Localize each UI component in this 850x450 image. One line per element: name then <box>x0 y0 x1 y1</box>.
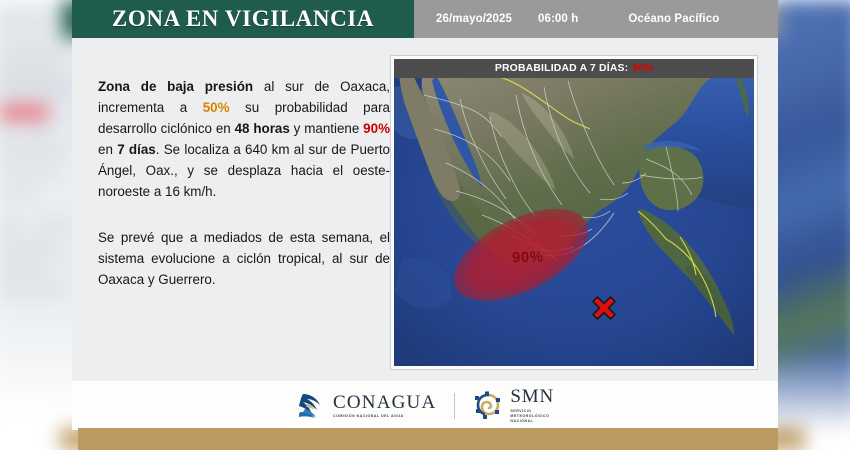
conagua-subtitle: COMISIÓN NACIONAL DEL AGUA <box>333 415 436 419</box>
map-probability-value: 90% <box>632 63 653 74</box>
bulletin-basin: Océano Pacífico <box>628 13 719 25</box>
conagua-name: CONAGUA <box>333 393 436 412</box>
bottom-accent-bar <box>78 428 778 450</box>
page-title: ZONA EN VIGILANCIA <box>112 6 374 32</box>
window-48-hours: 48 horas <box>235 121 290 136</box>
map-graphic <box>394 59 754 366</box>
smn-subtitle: SERVICIO METEOROLÓGICO NACIONAL <box>510 409 554 425</box>
p1-seg5: en <box>98 142 117 157</box>
header-meta-bar: 26/mayo/2025 06:00 h Océano Pacífico <box>414 0 778 38</box>
smn-logo: SMN SERVICIO METEOROLÓGICO NACIONAL <box>473 387 554 425</box>
forecast-text-column: Zona de baja presión al sur de Oaxaca, i… <box>98 76 390 290</box>
map-probability-label: PROBABILIDAD A 7 DÍAS: <box>495 63 629 74</box>
bulletin-time: 06:00 h <box>538 13 578 25</box>
smn-spiral-icon <box>473 390 503 420</box>
window-7-days: 7 días <box>117 142 156 157</box>
smn-name: SMN <box>510 387 554 406</box>
bulletin-card: ZONA EN VIGILANCIA 26/mayo/2025 06:00 h … <box>72 0 778 430</box>
forecast-paragraph-2: Se prevé que a mediados de esta semana, … <box>98 227 390 290</box>
probability-7d-value: 90% <box>363 121 390 136</box>
forecast-paragraph-1: Zona de baja presión al sur de Oaxaca, i… <box>98 76 390 202</box>
map-panel: 90% PROBABILIDAD A 7 DÍAS: 90% <box>390 55 758 370</box>
bulletin-header: ZONA EN VIGILANCIA 26/mayo/2025 06:00 h … <box>72 0 778 38</box>
conagua-logo: CONAGUA COMISIÓN NACIONAL DEL AGUA <box>296 391 436 421</box>
footer-divider <box>454 393 455 419</box>
bulletin-date: 26/mayo/2025 <box>436 13 512 25</box>
title-banner: ZONA EN VIGILANCIA <box>72 0 414 38</box>
conagua-eagle-icon <box>296 391 326 421</box>
p1-seg4: y mantiene <box>290 121 363 136</box>
bulletin-body: Zona de baja presión al sur de Oaxaca, i… <box>72 38 778 381</box>
map-probability-bar: PROBABILIDAD A 7 DÍAS: 90% <box>394 59 754 78</box>
probability-48h-value: 50% <box>203 100 230 115</box>
low-pressure-term: Zona de baja presión <box>98 79 253 94</box>
satellite-map[interactable]: 90% PROBABILIDAD A 7 DÍAS: 90% <box>394 59 754 366</box>
bulletin-stage: ZONA EN VIGILANCIA 26/mayo/2025 06:00 h … <box>0 0 850 450</box>
bulletin-footer: CONAGUA COMISIÓN NACIONAL DEL AGUA <box>72 381 778 430</box>
